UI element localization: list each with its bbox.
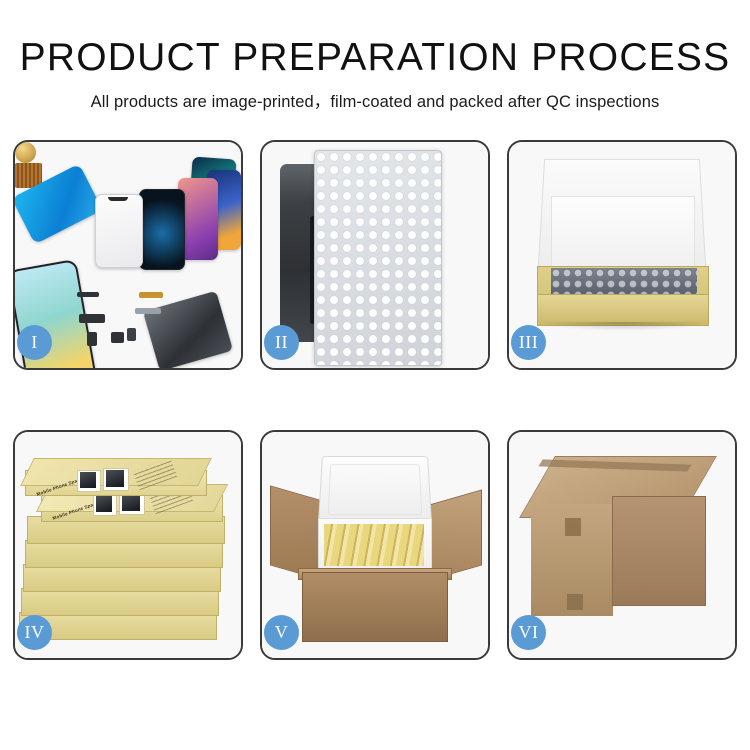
process-step-panel-3: III	[507, 140, 737, 370]
process-step-panel-5: V	[260, 430, 490, 660]
step-badge-5: V	[264, 615, 299, 650]
carton-tape-icon-bottom	[567, 594, 583, 610]
step-1-photo: I	[15, 142, 241, 368]
process-step-panel-6: VI	[507, 430, 737, 660]
carton-tape-icon-top	[565, 518, 581, 536]
process-step-panel-1: I	[13, 140, 243, 370]
step-badge-2: II	[264, 325, 299, 360]
step-badge-3: III	[511, 325, 546, 360]
glass-panel-icon	[95, 194, 143, 268]
step-badge-6: VI	[511, 615, 546, 650]
copper-coil-icon	[15, 142, 36, 163]
connector-icon	[139, 292, 163, 298]
speaker-part-icon	[77, 292, 99, 297]
step-4-photo: Mobile Phone Spare Parts Mobile Phone Sp…	[15, 432, 241, 658]
carton-body-icon	[302, 572, 448, 642]
product-preparation-infographic: PRODUCT PREPARATION PROCESS All products…	[0, 0, 750, 750]
step-2-photo: II	[262, 142, 488, 368]
small-part-icon-c	[127, 328, 136, 341]
yellow-boxes-stack-icon	[324, 524, 424, 566]
box-screen-thumb-c	[96, 496, 112, 512]
process-step-panel-4: Mobile Phone Spare Parts Mobile Phone Sp…	[13, 430, 243, 660]
page-subtitle: All products are image-printed，film-coat…	[0, 88, 750, 112]
process-step-panel-2: II	[260, 140, 490, 370]
box-screen-thumb-a	[80, 472, 96, 488]
step-badge-4: IV	[17, 615, 52, 650]
foam-sheet-icon	[551, 196, 695, 270]
stack-layer-icon-2	[21, 588, 219, 616]
black-phone-icon	[139, 189, 185, 270]
process-step-grid: I II	[13, 140, 737, 660]
box-screen-thumb-d	[122, 494, 140, 511]
flex-cable-icon	[79, 314, 105, 323]
stack-layer-icon-4	[25, 540, 223, 568]
step-badge-1: I	[17, 325, 52, 360]
box-screen-thumb-b	[106, 470, 124, 487]
carton-right-face-icon	[612, 496, 706, 606]
bubble-wrap-fill-icon	[551, 268, 697, 294]
header: PRODUCT PREPARATION PROCESS All products…	[0, 0, 750, 112]
small-part-icon-a	[87, 332, 97, 346]
stack-layer-icon-3	[23, 564, 221, 592]
step-5-photo: V	[262, 432, 488, 658]
phone-backplate-icon	[143, 291, 233, 368]
foam-lid-icon	[318, 456, 432, 525]
small-part-icon-b	[111, 332, 124, 343]
box-shadow	[539, 322, 707, 331]
antenna-strip-icon	[135, 308, 161, 314]
step-6-photo: VI	[509, 432, 735, 658]
step-3-photo: III	[509, 142, 735, 368]
bubble-wrap-bag-icon	[314, 150, 442, 366]
page-title: PRODUCT PREPARATION PROCESS	[0, 38, 750, 78]
